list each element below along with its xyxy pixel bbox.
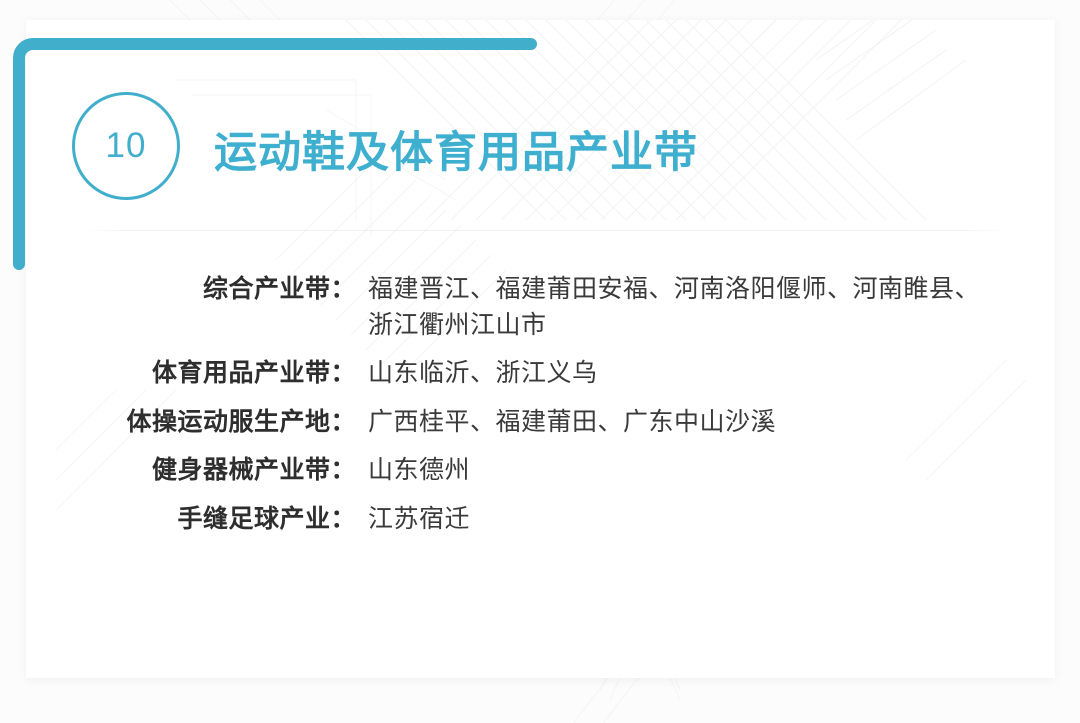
page-root: 10 运动鞋及体育用品产业带 综合产业带： 福建晋江、福建莆田安福、河南洛阳偃师… (0, 0, 1080, 723)
list-item: 体操运动服生产地： 广西桂平、福建莆田、广东中山沙溪 (26, 405, 1055, 441)
list-item: 体育用品产业带： 山东临沂、浙江义乌 (26, 356, 1055, 392)
row-label: 体操运动服生产地： (26, 405, 356, 441)
industry-belt-list: 综合产业带： 福建晋江、福建莆田安福、河南洛阳偃师、河南睢县、浙江衢州江山市 体… (26, 272, 1055, 550)
row-label: 手缝足球产业： (26, 502, 356, 538)
row-value: 广西桂平、福建莆田、广东中山沙溪 (356, 405, 991, 441)
card-header: 10 运动鞋及体育用品产业带 (26, 20, 1055, 232)
row-value: 山东临沂、浙江义乌 (356, 356, 991, 392)
row-label: 健身器械产业带： (26, 453, 356, 489)
section-number-badge: 10 (72, 92, 180, 200)
content-card: 10 运动鞋及体育用品产业带 综合产业带： 福建晋江、福建莆田安福、河南洛阳偃师… (26, 20, 1055, 678)
list-item: 健身器械产业带： 山东德州 (26, 453, 1055, 489)
header-divider (80, 230, 1010, 231)
list-item: 综合产业带： 福建晋江、福建莆田安福、河南洛阳偃师、河南睢县、浙江衢州江山市 (26, 272, 1055, 343)
row-label: 综合产业带： (26, 272, 356, 308)
row-label: 体育用品产业带： (26, 356, 356, 392)
row-value: 江苏宿迁 (356, 502, 991, 538)
row-value: 福建晋江、福建莆田安福、河南洛阳偃师、河南睢县、浙江衢州江山市 (356, 272, 991, 343)
page-title: 运动鞋及体育用品产业带 (214, 118, 698, 180)
section-number: 10 (106, 128, 147, 163)
list-item: 手缝足球产业： 江苏宿迁 (26, 502, 1055, 538)
row-value: 山东德州 (356, 453, 991, 489)
